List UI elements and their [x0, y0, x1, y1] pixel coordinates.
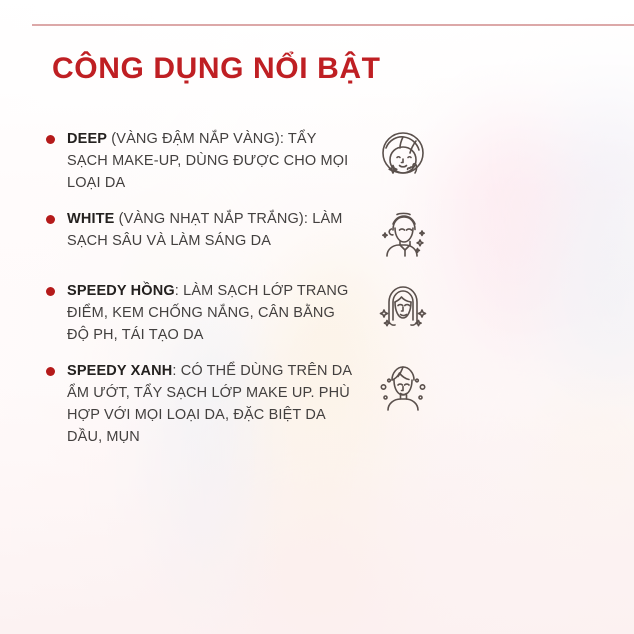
bullet-dot-icon: [46, 367, 55, 376]
page-title: CÔNG DỤNG NỔI BẬT: [52, 52, 381, 87]
bullet-dot-icon: [46, 287, 55, 296]
face-towel-wrap-dots-icon: [371, 354, 435, 418]
bullet-dot-icon: [46, 215, 55, 224]
benefit-text-deep: DEEP (VÀNG ĐẬM NẮP VÀNG): TẨY SẠCH MAKE-…: [67, 128, 359, 194]
face-hair-wrap-hand-sparkle-icon: [371, 122, 435, 186]
benefit-item-deep: DEEP (VÀNG ĐẬM NẮP VÀNG): TẨY SẠCH MAKE-…: [46, 128, 546, 194]
benefit-text-speedy-xanh: SPEEDY XANH: CÓ THỂ DÙNG TRÊN DA ẨM ƯỚT,…: [67, 360, 359, 448]
bullet-dot-icon: [46, 135, 55, 144]
benefit-lead-white: WHITE: [67, 211, 114, 227]
benefit-item-white: WHITE (VÀNG NHẠT NẮP TRẮNG): LÀM SẠCH SÂ…: [46, 208, 546, 266]
benefit-text-white: WHITE (VÀNG NHẠT NẮP TRẮNG): LÀM SẠCH SÂ…: [67, 208, 359, 252]
portrait-bust-robe-sparkle-icon: [371, 202, 435, 266]
benefit-item-speedy-hong: SPEEDY HỒNG: LÀM SẠCH LỚP TRANG ĐIỂM, KE…: [46, 280, 546, 346]
top-divider-rule: [32, 24, 634, 26]
benefits-list: DEEP (VÀNG ĐẬM NẮP VÀNG): TẨY SẠCH MAKE-…: [46, 128, 546, 448]
benefit-lead-deep: DEEP: [67, 131, 107, 147]
benefit-item-speedy-xanh: SPEEDY XANH: CÓ THỂ DÙNG TRÊN DA ẨM ƯỚT,…: [46, 360, 546, 448]
benefit-lead-speedy-hong: SPEEDY HỒNG: [67, 283, 175, 299]
benefit-lead-speedy-xanh: SPEEDY XANH: [67, 363, 172, 379]
face-long-hair-sparkles-icon: [371, 274, 435, 338]
benefit-text-speedy-hong: SPEEDY HỒNG: LÀM SẠCH LỚP TRANG ĐIỂM, KE…: [67, 280, 359, 346]
promo-poster: CÔNG DỤNG NỔI BẬT DEEP (VÀNG ĐẬM NẮP VÀN…: [0, 0, 634, 634]
benefit-detail-deep: (VÀNG ĐẬM NẮP VÀNG): TẨY SẠCH MAKE-UP, D…: [67, 131, 348, 191]
